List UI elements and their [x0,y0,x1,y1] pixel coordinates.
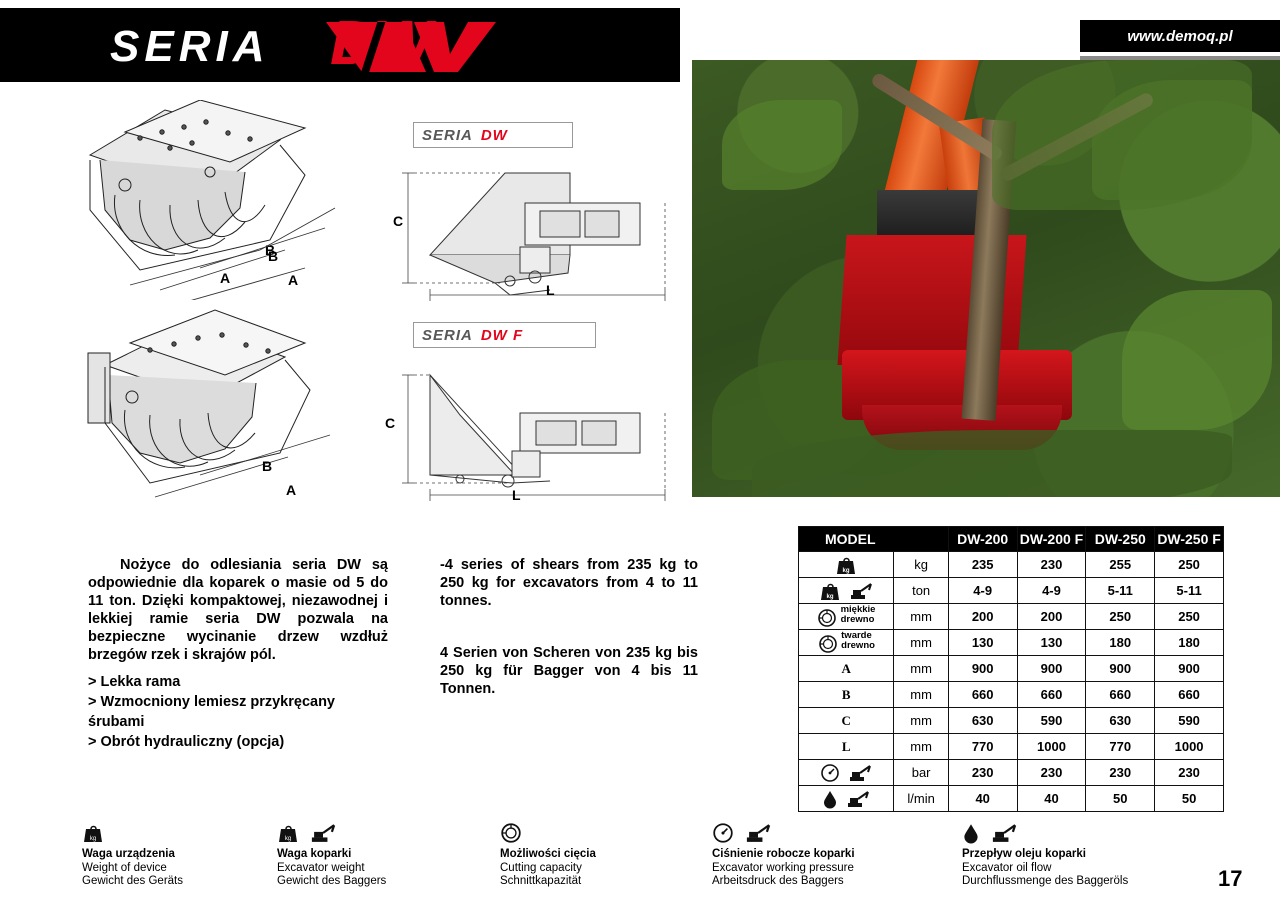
dimension-label-a: A [220,270,230,286]
cell-value: 660 [1155,682,1224,708]
legend-pl: Przepływ oleju koparki [962,848,1128,862]
legend-pl: Waga koparki [277,848,386,862]
th-model: MODEL [799,527,949,552]
excavator-icon [743,823,773,843]
cell-value: 250 [1155,552,1224,578]
legend-en: Excavator oil flow [962,862,1128,876]
legend-de: Gewicht des Geräts [82,875,183,889]
cell-value: 130 [948,630,1017,656]
cell-value: 230 [1017,552,1086,578]
bullet-item: > Wzmocniony lemiesz przykręcany śrubami [88,692,388,732]
legend-en: Cutting capacity [500,862,596,876]
legend-de: Schnittkapazität [500,875,596,889]
tag-seria-dw: SERIA DW [413,122,573,148]
oil-drop-icon [962,822,980,844]
legend-en: Excavator weight [277,862,386,876]
cell-value: 5-11 [1086,578,1155,604]
table-row: bar 230 230 230 230 [799,760,1224,786]
legend-en: Excavator working pressure [712,862,855,876]
row-unit: ton [894,578,948,604]
legend-item-cutting-capacity: Możliwości cięcia Cutting capacity Schni… [500,822,596,889]
table-row: A mm 900 900 900 900 [799,656,1224,682]
cell-value: 180 [1086,630,1155,656]
cell-value: 200 [948,604,1017,630]
row-unit: mm [894,630,948,656]
page-root: SERIA DW www.demoq.pl LEŚNICTWO [0,0,1280,912]
weight-kg-icon: kg [277,822,299,844]
cell-value: 590 [1155,708,1224,734]
tag-seria-dwf: SERIA DW F [413,322,596,348]
cell-value: 50 [1155,786,1224,812]
hard-wood-label: twardedrewno [841,631,875,651]
description-pl-text: Nożyce do odlesiania seria DW są odpowie… [88,557,388,663]
legend-item-oil-flow: Przepływ oleju koparki Excavator oil flo… [962,822,1128,889]
legend-pl: Waga urządzenia [82,848,183,862]
dw-logo-graphic [318,14,518,80]
cell-value: 660 [948,682,1017,708]
dim-a-label: A [799,656,894,682]
iso1-label-b: B [268,248,278,264]
table-row: kg ton 4-9 4-9 5-11 5-11 [799,578,1224,604]
drawing-dwf-sideview [400,355,685,510]
cutting-soft-icon: miękkiedrewno [799,604,894,630]
svg-text:kg: kg [843,568,850,574]
cell-value: 1000 [1155,734,1224,760]
row-unit: kg [894,552,948,578]
dwf-dim-c-label: C [385,415,395,431]
tag-seria-label: SERIA [422,127,473,144]
row-unit: l/min [894,786,948,812]
cell-value: 900 [1017,656,1086,682]
table-row: B mm 660 660 660 660 [799,682,1224,708]
tag-model-label-2: DW F [481,327,523,344]
legend-de: Gewicht des Baggers [277,875,386,889]
table-row: C mm 630 590 630 590 [799,708,1224,734]
cell-value: 40 [948,786,1017,812]
cutting-hard-icon: twardedrewno [799,630,894,656]
cell-value: 590 [1017,708,1086,734]
cell-value: 4-9 [1017,578,1086,604]
cutting-capacity-icon [500,822,522,844]
cell-value: 5-11 [1155,578,1224,604]
legend-de: Durchflussmenge des Baggeröls [962,875,1128,889]
cell-value: 660 [1017,682,1086,708]
spec-table: MODEL DW-200 DW-200 F DW-250 DW-250 F kg… [798,526,1224,812]
drawing-dwf-isometric [70,305,400,505]
photo-leaf-cluster [992,60,1252,210]
dw-dim-c-label: C [393,213,403,229]
row-unit: mm [894,682,948,708]
cell-value: 630 [948,708,1017,734]
legend-en: Weight of device [82,862,183,876]
table-row: miękkiedrewno mm 200 200 250 250 [799,604,1224,630]
cell-value: 770 [1086,734,1155,760]
excavator-icon [308,823,338,843]
cell-value: 255 [1086,552,1155,578]
cell-value: 250 [1155,604,1224,630]
dwf-dim-l-label: L [512,487,521,503]
legend-bar: kg Waga urządzenia Weight of device Gewi… [82,822,1232,892]
iso1-label-a: A [288,272,298,288]
th-dw200f: DW-200 F [1017,527,1086,552]
cell-value: 230 [1155,760,1224,786]
photo-leaf-cluster [722,100,842,190]
drawing-dw-isometric: B A [70,100,400,300]
svg-text:kg: kg [285,836,291,842]
soft-wood-label: miękkiedrewno [841,605,876,625]
dim-b-label: B [799,682,894,708]
svg-text:kg: kg [90,836,96,842]
product-photo [692,60,1280,497]
cell-value: 130 [1017,630,1086,656]
cell-value: 50 [1086,786,1155,812]
tag-model-label: DW [481,127,508,144]
cell-value: 4-9 [948,578,1017,604]
row-unit: mm [894,656,948,682]
cell-value: 230 [1017,760,1086,786]
cell-value: 900 [1155,656,1224,682]
cell-value: 900 [1086,656,1155,682]
row-unit: bar [894,760,948,786]
th-dw250f: DW-250 F [1155,527,1224,552]
table-row: twardedrewno mm 130 130 180 180 [799,630,1224,656]
table-row: L mm 770 1000 770 1000 [799,734,1224,760]
pressure-icon [799,760,894,786]
description-pl: Nożyce do odlesiania seria DW są odpowie… [88,556,388,664]
dim-l-label: L [799,734,894,760]
cell-value: 250 [1086,604,1155,630]
cell-value: 200 [1017,604,1086,630]
website-text: www.demoq.pl [1127,28,1232,45]
legend-item-working-pressure: Ciśnienie robocze koparki Excavator work… [712,822,855,889]
legend-pl: Możliwości cięcia [500,848,596,862]
cell-value: 1000 [1017,734,1086,760]
iso2-label-b: B [262,458,272,474]
row-unit: mm [894,708,948,734]
cell-value: 230 [1086,760,1155,786]
header-seria-text: SERIA [110,22,269,72]
cell-value: 630 [1086,708,1155,734]
page-number: 17 [1218,866,1242,892]
legend-pl: Ciśnienie robocze koparki [712,848,855,862]
iso2-label-a: A [286,482,296,498]
legend-item-excavator-weight: kg Waga koparki Excavator weight Gewicht… [277,822,386,889]
website-banner[interactable]: www.demoq.pl [1080,20,1280,52]
table-row: l/min 40 40 50 50 [799,786,1224,812]
svg-text:kg: kg [826,594,833,600]
cell-value: 180 [1155,630,1224,656]
drawing-dw-sideview [400,155,685,310]
row-unit: mm [894,734,948,760]
legend-de: Arbeitsdruck des Baggers [712,875,855,889]
tag-seria-label-2: SERIA [422,327,473,344]
description-de: 4 Serien von Scheren von 235 kg bis 250 … [440,644,698,698]
cell-value: 770 [948,734,1017,760]
excavator-weight-icon: kg [799,578,894,604]
cell-value: 660 [1086,682,1155,708]
cell-value: 40 [1017,786,1086,812]
photo-leaf-cluster [1122,290,1272,430]
cell-value: 235 [948,552,1017,578]
legend-item-weight-device: kg Waga urządzenia Weight of device Gewi… [82,822,183,889]
table-row: kg kg 235 230 255 250 [799,552,1224,578]
cell-value: 900 [948,656,1017,682]
weight-device-icon: kg [82,822,104,844]
excavator-icon [989,823,1019,843]
weight-device-icon: kg [799,552,894,578]
th-dw200: DW-200 [948,527,1017,552]
bullet-item: > Obrót hydrauliczny (opcja) [88,732,388,752]
pressure-gauge-icon [712,822,734,844]
cell-value: 230 [948,760,1017,786]
row-unit: mm [894,604,948,630]
dim-c-label: C [799,708,894,734]
table-header-row: MODEL DW-200 DW-200 F DW-250 DW-250 F [799,527,1224,552]
th-dw250: DW-250 [1086,527,1155,552]
description-en: -4 series of shears from 235 kg to 250 k… [440,556,698,610]
bullet-item: > Lekka rama [88,672,388,692]
oil-flow-icon [799,786,894,812]
dw-dim-l-label: L [546,282,555,298]
feature-bullets: > Lekka rama > Wzmocniony lemiesz przykr… [88,672,388,752]
